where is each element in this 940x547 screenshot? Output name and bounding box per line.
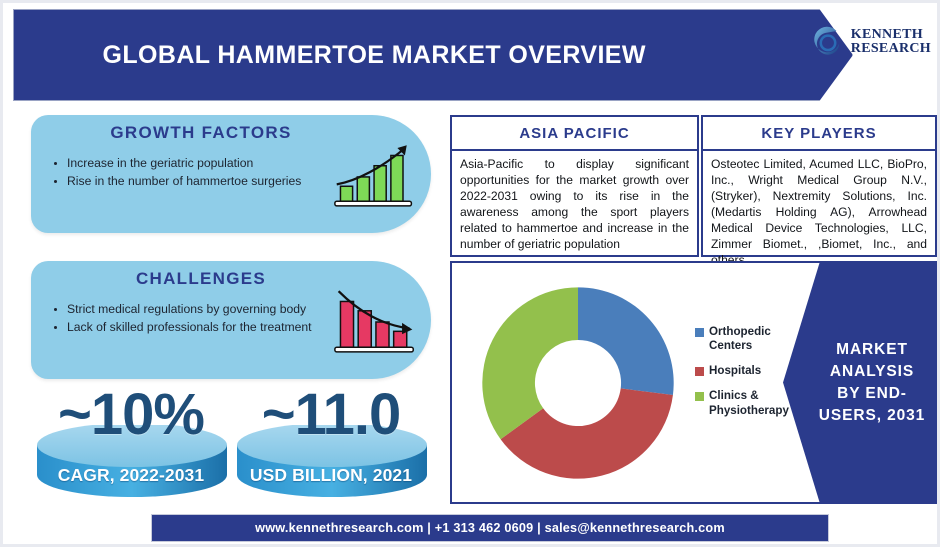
legend-swatch-icon (695, 367, 704, 376)
logo-line-1: KENNETH (851, 28, 931, 42)
end-users-chart-panel: Orthopedic CentersHospitalsClinics & Phy… (450, 261, 937, 504)
market-analysis-callout-text: MARKET ANALYSIS BY END- USERS, 2031 (793, 339, 925, 427)
list-item: Rise in the number of hammertoe surgerie… (67, 173, 343, 190)
donut-slice (578, 287, 674, 395)
growth-factors-panel: GROWTH FACTORS Increase in the geriatric… (31, 115, 431, 233)
footer-contact-text: www.kennethresearch.com | +1 313 462 060… (255, 521, 725, 535)
header-banner: GLOBAL HAMMERTOE MARKET OVERVIEW (13, 9, 853, 101)
donut-chart (474, 279, 682, 487)
rising-bar-chart-icon (333, 139, 417, 213)
market-analysis-callout: MARKET ANALYSIS BY END- USERS, 2031 (783, 263, 935, 502)
stat-cagr-caption: CAGR, 2022-2031 (31, 465, 231, 486)
challenges-title: CHALLENGES (31, 269, 371, 289)
donut-slice (482, 287, 578, 439)
key-players-panel: KEY PLAYERS Osteotec Limited, Acumed LLC… (701, 115, 937, 257)
page-title: GLOBAL HAMMERTOE MARKET OVERVIEW (13, 9, 735, 101)
list-item: Lack of skilled professionals for the tr… (67, 319, 343, 336)
legend-swatch-icon (695, 392, 704, 401)
circle-swirl-icon (811, 25, 845, 59)
stat-usd: ~11.0 USD BILLION, 2021 (231, 385, 431, 505)
growth-factors-list: Increase in the geriatric population Ris… (49, 155, 343, 192)
stat-usd-caption: USD BILLION, 2021 (231, 465, 431, 486)
footer-contact-bar: www.kennethresearch.com | +1 313 462 060… (151, 514, 829, 542)
legend-label: Hospitals (709, 364, 761, 378)
list-item: Increase in the geriatric population (67, 155, 343, 172)
challenges-list: Strict medical regulations by governing … (49, 301, 343, 338)
key-players-body: Osteotec Limited, Acumed LLC, BioPro, In… (703, 149, 935, 255)
legend-swatch-icon (695, 328, 704, 337)
stat-cagr: ~10% CAGR, 2022-2031 (31, 385, 231, 505)
growth-factors-title: GROWTH FACTORS (31, 123, 371, 143)
legend-label: Clinics & Physiotherapy (709, 389, 789, 417)
list-item: Strict medical regulations by governing … (67, 301, 343, 318)
logo-line-2: RESEARCH (851, 42, 931, 56)
stat-usd-value: ~11.0 (231, 381, 431, 448)
brand-logo-text: KENNETH RESEARCH (851, 28, 931, 57)
key-players-title: KEY PLAYERS (703, 117, 935, 151)
asia-pacific-body: Asia-Pacific to display significant oppo… (452, 149, 697, 255)
falling-bar-chart-icon (333, 285, 417, 359)
asia-pacific-panel: ASIA PACIFIC Asia-Pacific to display sig… (450, 115, 699, 257)
challenges-panel: CHALLENGES Strict medical regulations by… (31, 261, 431, 379)
asia-pacific-title: ASIA PACIFIC (452, 117, 697, 151)
infographic-page: GLOBAL HAMMERTOE MARKET OVERVIEW KENNETH… (0, 0, 940, 547)
brand-logo: KENNETH RESEARCH (811, 25, 931, 59)
stat-cagr-value: ~10% (31, 381, 231, 448)
legend-label: Orthopedic Centers (709, 325, 771, 353)
